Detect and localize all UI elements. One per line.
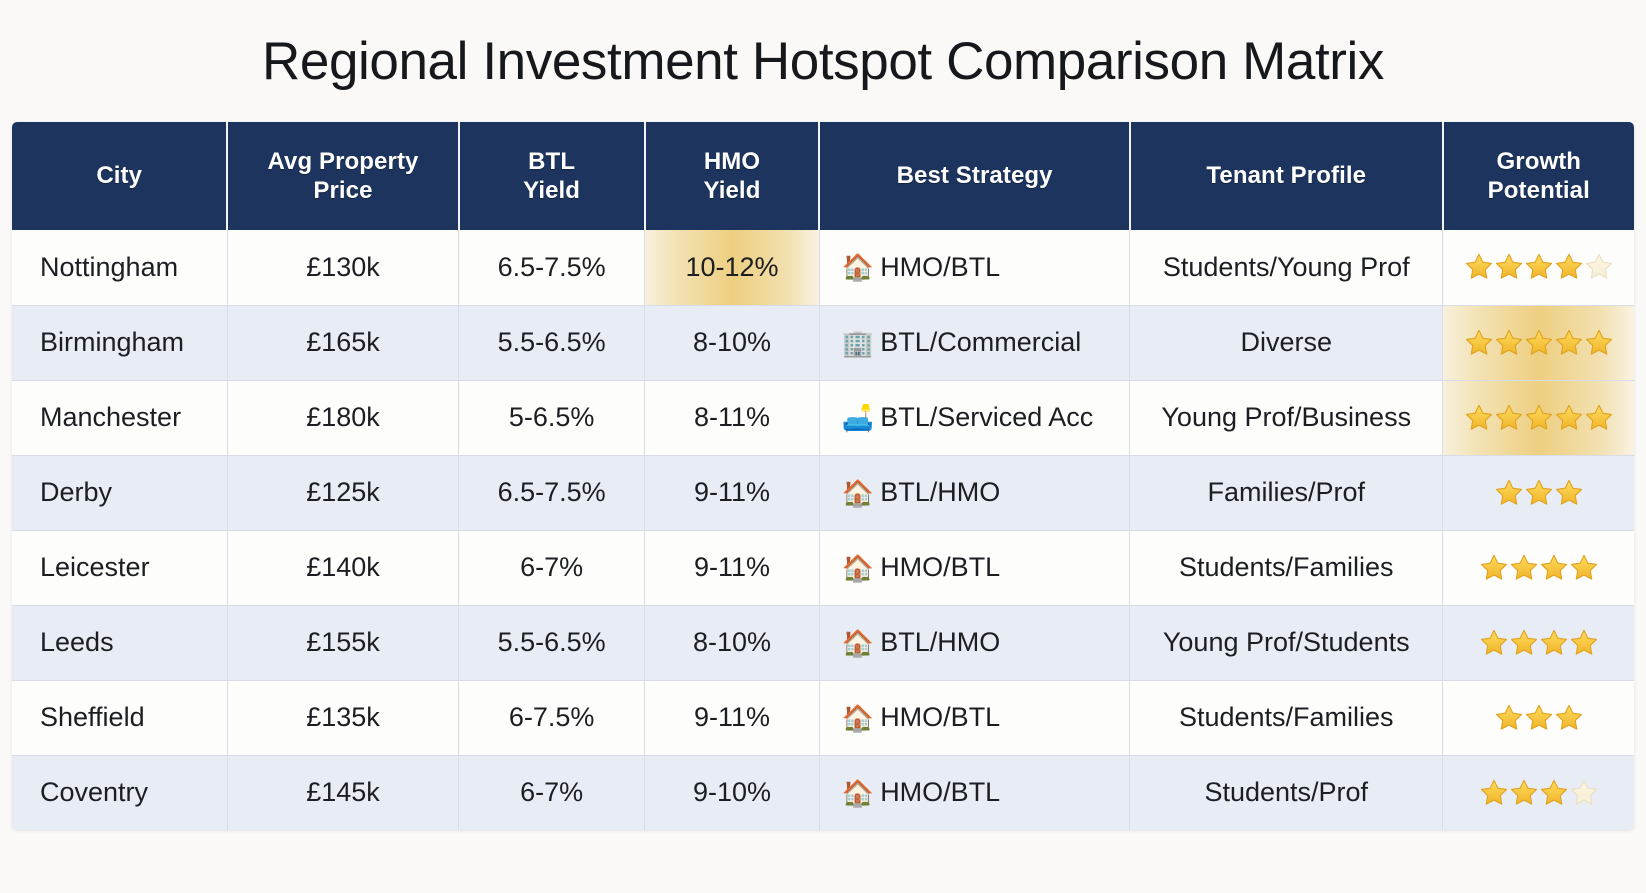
cell-btl-yield: 6-7% bbox=[459, 755, 645, 830]
page-root: Regional Investment Hotspot Comparison M… bbox=[0, 0, 1646, 893]
cell-btl-yield: 5.5-6.5% bbox=[459, 305, 645, 380]
cell-hmo-yield: 8-10% bbox=[645, 305, 820, 380]
strategy-label: HMO/BTL bbox=[880, 552, 1000, 583]
cell-avg-property-price: £180k bbox=[227, 380, 458, 455]
cell-hmo-yield: 9-10% bbox=[645, 755, 820, 830]
cell-avg-property-price: £140k bbox=[227, 530, 458, 605]
table-body: Nottingham£130k6.5-7.5%10-12%🏠HMO/BTLStu… bbox=[12, 230, 1634, 830]
cell-avg-property-price: £165k bbox=[227, 305, 458, 380]
cell-best-strategy: 🛋️BTL/Serviced Acc bbox=[819, 380, 1130, 455]
column-header-best-strategy[interactable]: Best Strategy bbox=[819, 122, 1130, 230]
cell-btl-yield: 6-7.5% bbox=[459, 680, 645, 755]
cell-hmo-yield: 9-11% bbox=[645, 455, 820, 530]
star-filled-icon bbox=[1524, 328, 1554, 358]
cell-tenant-profile: Families/Prof bbox=[1130, 455, 1443, 530]
cell-best-strategy: 🏠HMO/BTL bbox=[819, 530, 1130, 605]
cell-best-strategy: 🏠BTL/HMO bbox=[819, 455, 1130, 530]
star-filled-icon bbox=[1479, 553, 1509, 583]
cell-btl-yield: 6.5-7.5% bbox=[459, 230, 645, 305]
cell-tenant-profile: Students/Families bbox=[1130, 680, 1443, 755]
cell-city: Leeds bbox=[12, 605, 227, 680]
star-filled-icon bbox=[1569, 628, 1599, 658]
table-row[interactable]: Leeds£155k5.5-6.5%8-10%🏠BTL/HMOYoung Pro… bbox=[12, 605, 1634, 680]
couch-lamp-icon: 🛋️ bbox=[842, 405, 874, 431]
column-header-city-label: City bbox=[96, 162, 142, 189]
cell-tenant-profile: Young Prof/Business bbox=[1130, 380, 1443, 455]
page-title: Regional Investment Hotspot Comparison M… bbox=[262, 31, 1384, 92]
column-header-hmo-yield[interactable]: HMO Yield bbox=[645, 122, 820, 230]
star-filled-icon bbox=[1494, 703, 1524, 733]
house-icon: 🏠 bbox=[842, 254, 874, 280]
table-row[interactable]: Leicester£140k6-7%9-11%🏠HMO/BTLStudents/… bbox=[12, 530, 1634, 605]
star-filled-icon bbox=[1569, 553, 1599, 583]
cell-best-strategy: 🏠HMO/BTL bbox=[819, 755, 1130, 830]
table-header-row: City Avg Property Price BTL Yield HMO Yi… bbox=[12, 122, 1634, 230]
strategy-label: HMO/BTL bbox=[880, 252, 1000, 283]
star-filled-icon bbox=[1494, 328, 1524, 358]
column-header-btl-line1: BTL bbox=[528, 148, 575, 175]
cell-growth-potential bbox=[1443, 680, 1634, 755]
house-icon: 🏠 bbox=[842, 630, 874, 656]
star-filled-icon bbox=[1584, 403, 1614, 433]
star-filled-icon bbox=[1509, 628, 1539, 658]
table-header: City Avg Property Price BTL Yield HMO Yi… bbox=[12, 122, 1634, 230]
star-filled-icon bbox=[1554, 703, 1584, 733]
cell-city: Sheffield bbox=[12, 680, 227, 755]
growth-star-rating bbox=[1449, 328, 1628, 358]
growth-star-rating bbox=[1449, 403, 1628, 433]
cell-growth-potential bbox=[1443, 530, 1634, 605]
growth-star-rating bbox=[1449, 478, 1628, 508]
star-filled-icon bbox=[1464, 403, 1494, 433]
cell-hmo-yield: 10-12% bbox=[645, 230, 820, 305]
strategy-label: BTL/Serviced Acc bbox=[880, 402, 1093, 433]
star-filled-icon bbox=[1494, 252, 1524, 282]
cell-growth-potential bbox=[1443, 605, 1634, 680]
house-icon: 🏠 bbox=[842, 780, 874, 806]
cell-avg-property-price: £125k bbox=[227, 455, 458, 530]
cell-btl-yield: 5-6.5% bbox=[459, 380, 645, 455]
column-header-avg-property-price[interactable]: Avg Property Price bbox=[227, 122, 458, 230]
star-filled-icon bbox=[1584, 328, 1614, 358]
column-header-hmo-line2: Yield bbox=[704, 177, 761, 204]
growth-star-rating bbox=[1449, 778, 1628, 808]
star-filled-icon bbox=[1524, 478, 1554, 508]
cell-growth-potential bbox=[1443, 755, 1634, 830]
star-filled-icon bbox=[1494, 478, 1524, 508]
strategy-label: BTL/HMO bbox=[880, 627, 1000, 658]
column-header-growth-potential[interactable]: Growth Potential bbox=[1443, 122, 1634, 230]
cell-btl-yield: 5.5-6.5% bbox=[459, 605, 645, 680]
column-header-tenant-label: Tenant Profile bbox=[1206, 162, 1366, 189]
column-header-btl-yield[interactable]: BTL Yield bbox=[459, 122, 645, 230]
cell-avg-property-price: £135k bbox=[227, 680, 458, 755]
star-empty-icon bbox=[1584, 252, 1614, 282]
table-row[interactable]: Coventry£145k6-7%9-10%🏠HMO/BTLStudents/P… bbox=[12, 755, 1634, 830]
table-row[interactable]: Derby£125k6.5-7.5%9-11%🏠BTL/HMOFamilies/… bbox=[12, 455, 1634, 530]
star-filled-icon bbox=[1554, 328, 1584, 358]
cell-best-strategy: 🏠BTL/HMO bbox=[819, 605, 1130, 680]
cell-tenant-profile: Students/Prof bbox=[1130, 755, 1443, 830]
cell-city: Birmingham bbox=[12, 305, 227, 380]
cell-growth-potential bbox=[1443, 305, 1634, 380]
cell-city: Coventry bbox=[12, 755, 227, 830]
house-icon: 🏠 bbox=[842, 480, 874, 506]
house-icon: 🏠 bbox=[842, 555, 874, 581]
title-container: Regional Investment Hotspot Comparison M… bbox=[0, 0, 1646, 122]
cell-city: Derby bbox=[12, 455, 227, 530]
cell-avg-property-price: £145k bbox=[227, 755, 458, 830]
cell-btl-yield: 6-7% bbox=[459, 530, 645, 605]
star-filled-icon bbox=[1524, 403, 1554, 433]
star-filled-icon bbox=[1509, 778, 1539, 808]
growth-star-rating bbox=[1449, 252, 1628, 282]
cell-hmo-yield: 8-10% bbox=[645, 605, 820, 680]
cell-growth-potential bbox=[1443, 455, 1634, 530]
star-filled-icon bbox=[1554, 403, 1584, 433]
cell-city: Leicester bbox=[12, 530, 227, 605]
star-filled-icon bbox=[1539, 628, 1569, 658]
strategy-label: HMO/BTL bbox=[880, 777, 1000, 808]
star-filled-icon bbox=[1479, 628, 1509, 658]
cell-avg-property-price: £155k bbox=[227, 605, 458, 680]
office-building-icon: 🏢 bbox=[842, 330, 874, 356]
star-filled-icon bbox=[1554, 478, 1584, 508]
cell-tenant-profile: Students/Families bbox=[1130, 530, 1443, 605]
cell-tenant-profile: Young Prof/Students bbox=[1130, 605, 1443, 680]
star-filled-icon bbox=[1464, 252, 1494, 282]
star-filled-icon bbox=[1539, 778, 1569, 808]
cell-city: Nottingham bbox=[12, 230, 227, 305]
cell-growth-potential bbox=[1443, 380, 1634, 455]
column-header-growth-line1: Growth bbox=[1496, 148, 1581, 175]
house-icon: 🏠 bbox=[842, 705, 874, 731]
star-empty-icon bbox=[1569, 778, 1599, 808]
cell-best-strategy: 🏠HMO/BTL bbox=[819, 230, 1130, 305]
column-header-price-line1: Avg Property bbox=[267, 148, 418, 175]
cell-btl-yield: 6.5-7.5% bbox=[459, 455, 645, 530]
strategy-label: HMO/BTL bbox=[880, 702, 1000, 733]
cell-tenant-profile: Students/Young Prof bbox=[1130, 230, 1443, 305]
star-filled-icon bbox=[1524, 252, 1554, 282]
cell-growth-potential bbox=[1443, 230, 1634, 305]
cell-hmo-yield: 9-11% bbox=[645, 530, 820, 605]
strategy-label: BTL/HMO bbox=[880, 477, 1000, 508]
cell-best-strategy: 🏠HMO/BTL bbox=[819, 680, 1130, 755]
table-row[interactable]: Nottingham£130k6.5-7.5%10-12%🏠HMO/BTLStu… bbox=[12, 230, 1634, 305]
table-row[interactable]: Sheffield£135k6-7.5%9-11%🏠HMO/BTLStudent… bbox=[12, 680, 1634, 755]
star-filled-icon bbox=[1464, 328, 1494, 358]
comparison-matrix-table: City Avg Property Price BTL Yield HMO Yi… bbox=[12, 122, 1634, 830]
cell-tenant-profile: Diverse bbox=[1130, 305, 1443, 380]
column-header-strategy-label: Best Strategy bbox=[897, 162, 1053, 189]
strategy-label: BTL/Commercial bbox=[880, 327, 1081, 358]
star-filled-icon bbox=[1494, 403, 1524, 433]
star-filled-icon bbox=[1524, 703, 1554, 733]
star-filled-icon bbox=[1554, 252, 1584, 282]
table-row[interactable]: Birmingham£165k5.5-6.5%8-10%🏢BTL/Commerc… bbox=[12, 305, 1634, 380]
table-row[interactable]: Manchester£180k5-6.5%8-11%🛋️BTL/Serviced… bbox=[12, 380, 1634, 455]
column-header-tenant-profile[interactable]: Tenant Profile bbox=[1130, 122, 1443, 230]
star-filled-icon bbox=[1539, 553, 1569, 583]
cell-best-strategy: 🏢BTL/Commercial bbox=[819, 305, 1130, 380]
column-header-growth-line2: Potential bbox=[1488, 177, 1590, 204]
cell-avg-property-price: £130k bbox=[227, 230, 458, 305]
growth-star-rating bbox=[1449, 703, 1628, 733]
column-header-price-line2: Price bbox=[313, 177, 372, 204]
growth-star-rating bbox=[1449, 553, 1628, 583]
cell-hmo-yield: 9-11% bbox=[645, 680, 820, 755]
column-header-city[interactable]: City bbox=[12, 122, 227, 230]
comparison-matrix-table-container: City Avg Property Price BTL Yield HMO Yi… bbox=[12, 122, 1634, 830]
star-filled-icon bbox=[1509, 553, 1539, 583]
growth-star-rating bbox=[1449, 628, 1628, 658]
cell-hmo-yield: 8-11% bbox=[645, 380, 820, 455]
column-header-hmo-line1: HMO bbox=[704, 148, 760, 175]
column-header-btl-line2: Yield bbox=[523, 177, 580, 204]
star-filled-icon bbox=[1479, 778, 1509, 808]
cell-city: Manchester bbox=[12, 380, 227, 455]
